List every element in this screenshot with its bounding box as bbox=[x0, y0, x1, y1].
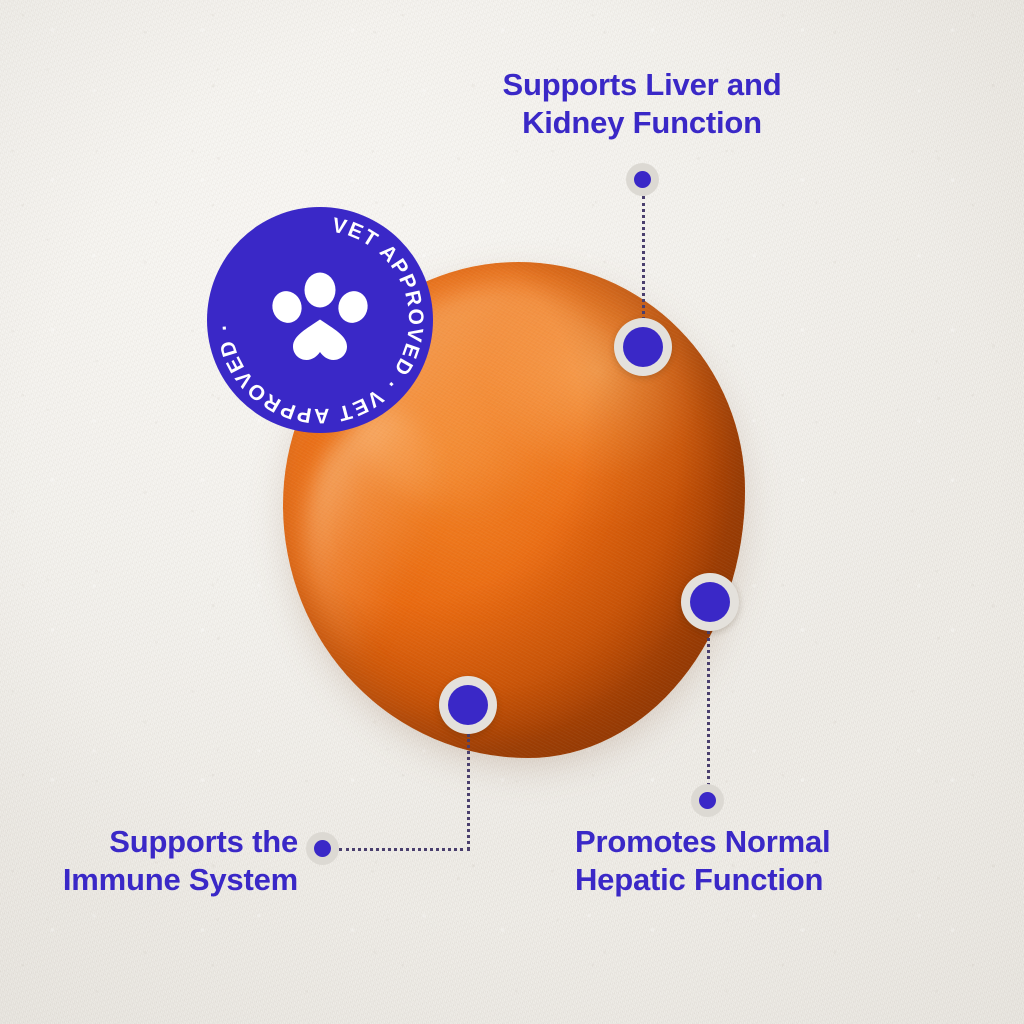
connector-liver-kidney bbox=[642, 196, 645, 320]
callout-label-hepatic-line-1: Promotes Normal bbox=[575, 823, 975, 861]
callout-marker-immune[interactable] bbox=[439, 676, 497, 734]
connector-immune-horizontal bbox=[339, 848, 470, 851]
callout-endpoint-liver-kidney[interactable] bbox=[626, 163, 659, 196]
callout-label-liver-kidney: Supports Liver and Kidney Function bbox=[452, 66, 832, 143]
callout-label-immune: Supports the Immune System bbox=[0, 823, 298, 900]
product-infographic: VET APPROVED · VET APPROVED · Supports L… bbox=[0, 0, 1024, 1024]
callout-label-liver-kidney-line-1: Supports Liver and bbox=[452, 66, 832, 104]
callout-endpoint-immune[interactable] bbox=[306, 832, 339, 865]
vet-approved-badge: VET APPROVED · VET APPROVED · bbox=[207, 207, 433, 433]
callout-endpoint-hepatic[interactable] bbox=[691, 784, 724, 817]
callout-label-immune-line-1: Supports the bbox=[0, 823, 298, 861]
callout-label-liver-kidney-line-2: Kidney Function bbox=[452, 104, 832, 142]
connector-hepatic bbox=[707, 631, 710, 786]
callout-label-immune-line-2: Immune System bbox=[0, 861, 298, 899]
callout-marker-liver-kidney[interactable] bbox=[614, 318, 672, 376]
connector-immune-vertical bbox=[467, 734, 470, 850]
callout-label-hepatic: Promotes Normal Hepatic Function bbox=[575, 823, 975, 900]
callout-marker-hepatic[interactable] bbox=[681, 573, 739, 631]
callout-label-hepatic-line-2: Hepatic Function bbox=[575, 861, 975, 899]
